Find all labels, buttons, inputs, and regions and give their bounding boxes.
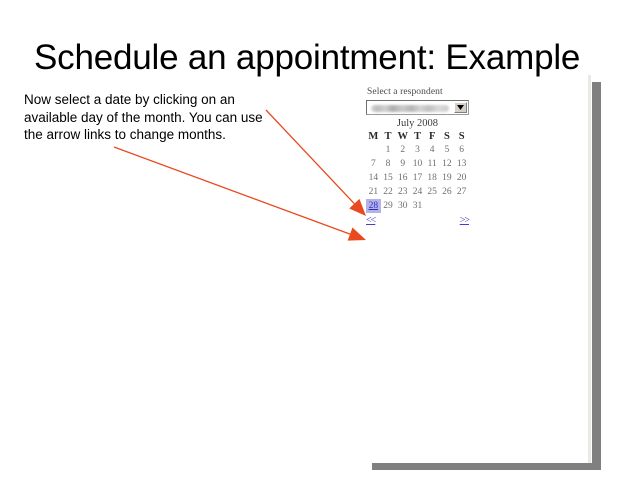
page-edge xyxy=(588,75,591,465)
calendar-weekday-4: F xyxy=(425,131,440,143)
calendar-month-title: July 2008 xyxy=(366,118,469,129)
calendar-day: 14 xyxy=(366,171,381,185)
calendar-day: 13 xyxy=(454,157,469,171)
calendar-day: 5 xyxy=(440,143,455,157)
calendar-week-row: 21222324252627 xyxy=(366,185,469,199)
calendar-day: 19 xyxy=(440,171,455,185)
calendar-day: 7 xyxy=(366,157,381,171)
slide-canvas: Schedule an appointment: Example Now sel… xyxy=(0,0,640,480)
prev-month-link[interactable]: << xyxy=(366,215,375,226)
instruction-text: Now select a date by clicking on an avai… xyxy=(24,91,269,144)
calendar-week-row: 123456 xyxy=(366,143,469,157)
respondent-label: Select a respondent xyxy=(367,87,476,97)
calendar-weekday-2: W xyxy=(395,131,410,143)
page-shadow-right xyxy=(592,82,601,469)
respondent-value-redacted xyxy=(371,105,449,112)
calendar-day: 20 xyxy=(454,171,469,185)
calendar-day: 21 xyxy=(366,185,381,199)
calendar-nav: << >> xyxy=(366,215,469,226)
calendar-weekday-5: S xyxy=(440,131,455,143)
calendar-weekday-0: M xyxy=(366,131,381,143)
calendar-day-selected[interactable]: 28 xyxy=(366,199,381,213)
calendar-week-row: 14151617181920 xyxy=(366,171,469,185)
calendar-day: 8 xyxy=(381,157,396,171)
calendar-grid: MTWTFSS 12345678910111213141516171819202… xyxy=(366,131,469,213)
calendar-day: 22 xyxy=(381,185,396,199)
calendar-day: 12 xyxy=(440,157,455,171)
calendar-day: 24 xyxy=(410,185,425,199)
calendar-week-row: 28293031 xyxy=(366,199,469,213)
calendar-day-empty xyxy=(425,199,440,213)
chevron-down-icon[interactable] xyxy=(454,102,467,113)
arrow-to-selected-day xyxy=(266,110,366,216)
calendar-day: 11 xyxy=(425,157,440,171)
arrow-to-prev-month-link xyxy=(114,147,366,241)
calendar-day-label: 28 xyxy=(369,201,379,211)
calendar-day: 9 xyxy=(395,157,410,171)
calendar-day: 15 xyxy=(381,171,396,185)
calendar-day: 4 xyxy=(425,143,440,157)
calendar-day: 16 xyxy=(395,171,410,185)
calendar-day: 18 xyxy=(425,171,440,185)
page-title: Schedule an appointment: Example xyxy=(34,36,614,80)
calendar-day: 29 xyxy=(381,199,396,213)
respondent-select[interactable] xyxy=(366,100,469,115)
calendar-day: 3 xyxy=(410,143,425,157)
page-shadow-bottom xyxy=(372,463,601,470)
calendar-day-empty xyxy=(366,143,381,157)
calendar-day-empty xyxy=(440,199,455,213)
calendar-day: 6 xyxy=(454,143,469,157)
calendar-day: 2 xyxy=(395,143,410,157)
calendar-day: 1 xyxy=(381,143,396,157)
calendar-day: 25 xyxy=(425,185,440,199)
next-month-link[interactable]: >> xyxy=(460,215,469,226)
calendar-week-row: 78910111213 xyxy=(366,157,469,171)
appointment-widget: Select a respondent July 2008 MTWTFSS 12… xyxy=(366,87,476,226)
calendar-weekday-1: T xyxy=(381,131,396,143)
calendar-weekday-6: S xyxy=(454,131,469,143)
calendar-day: 10 xyxy=(410,157,425,171)
calendar-weekday-3: T xyxy=(410,131,425,143)
calendar-day: 30 xyxy=(395,199,410,213)
calendar-day: 23 xyxy=(395,185,410,199)
calendar-day: 26 xyxy=(440,185,455,199)
calendar-day: 17 xyxy=(410,171,425,185)
calendar-day: 27 xyxy=(454,185,469,199)
calendar-day: 31 xyxy=(410,199,425,213)
calendar-weekday-header: MTWTFSS xyxy=(366,131,469,143)
calendar-day-empty xyxy=(454,199,469,213)
